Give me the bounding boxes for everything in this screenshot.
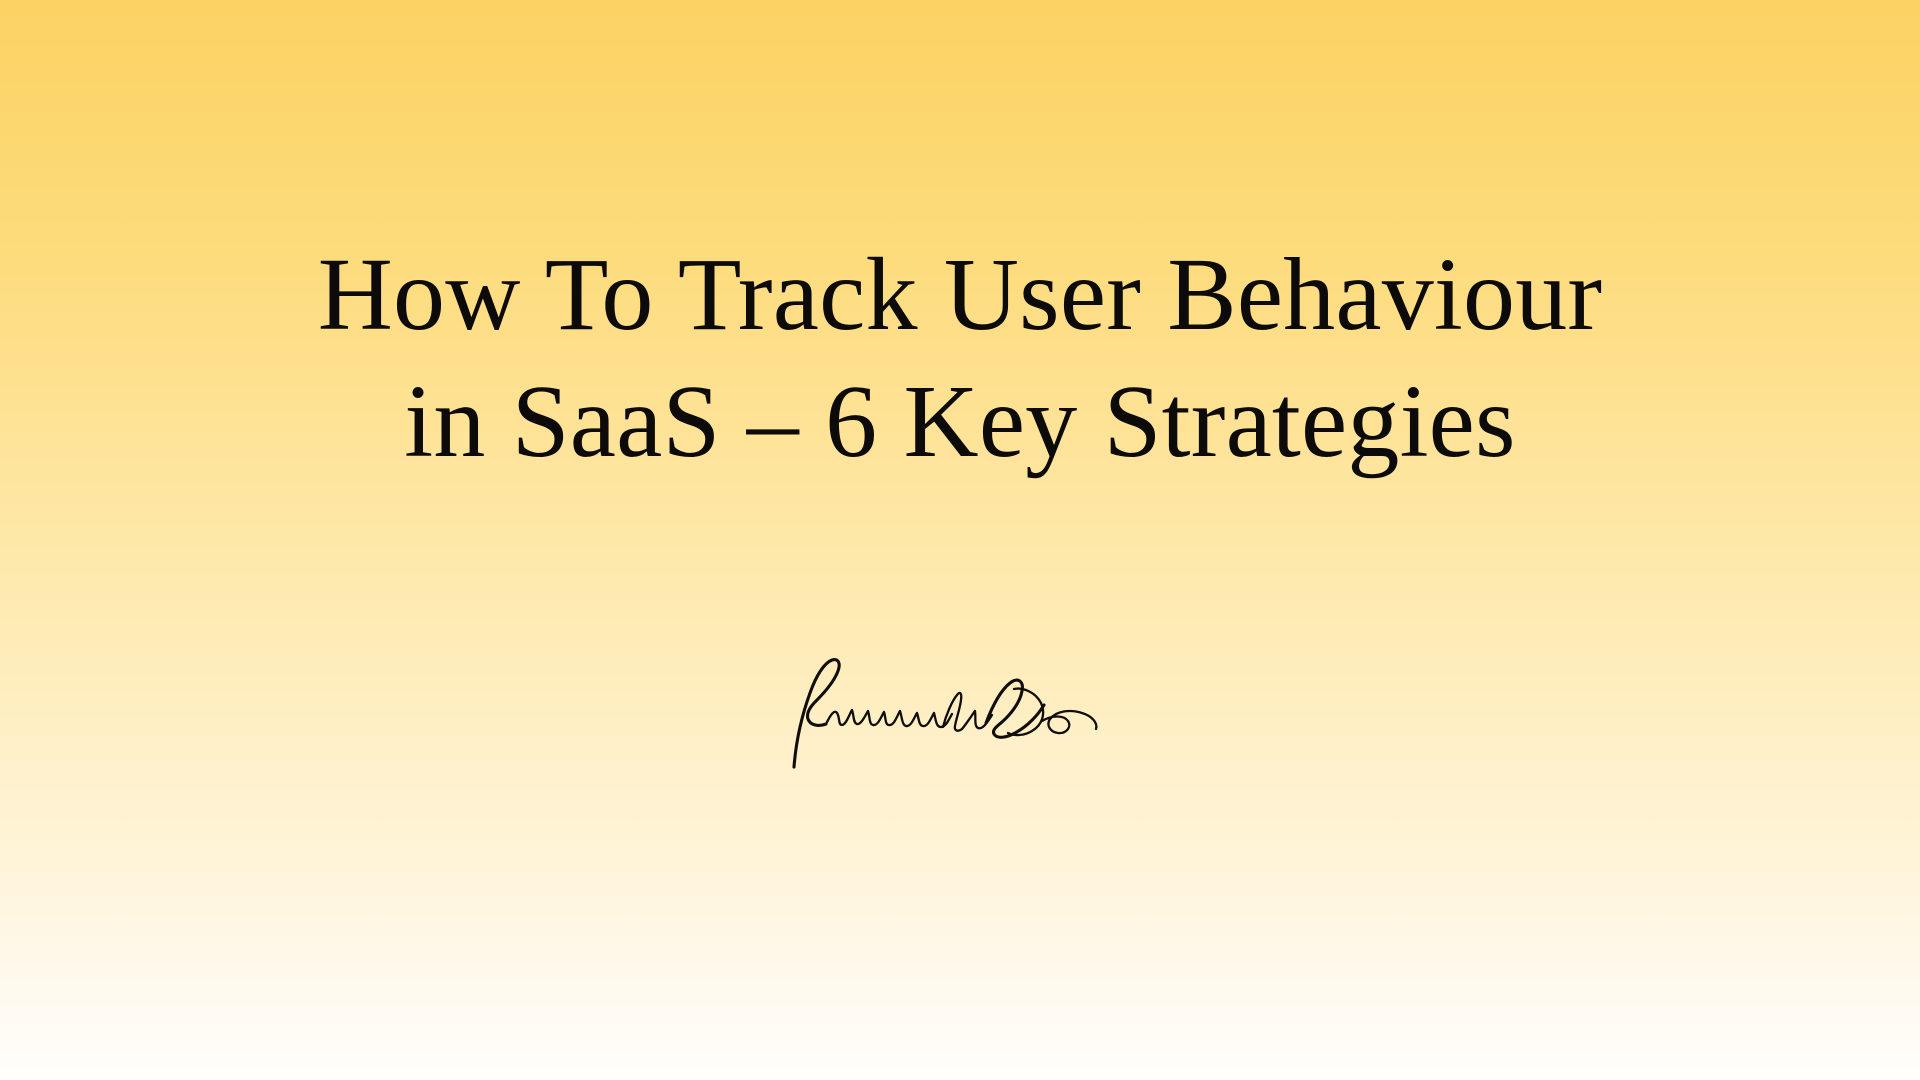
signature (0, 645, 1920, 775)
title-slide: How To Track User Behaviour in SaaS – 6 … (0, 0, 1920, 1080)
signature-mark-icon (780, 645, 1140, 775)
title-line-2: in SaaS – 6 Key Strategies (90, 359, 1830, 486)
title-line-1: How To Track User Behaviour (90, 232, 1830, 359)
page-title: How To Track User Behaviour in SaaS – 6 … (0, 232, 1920, 486)
